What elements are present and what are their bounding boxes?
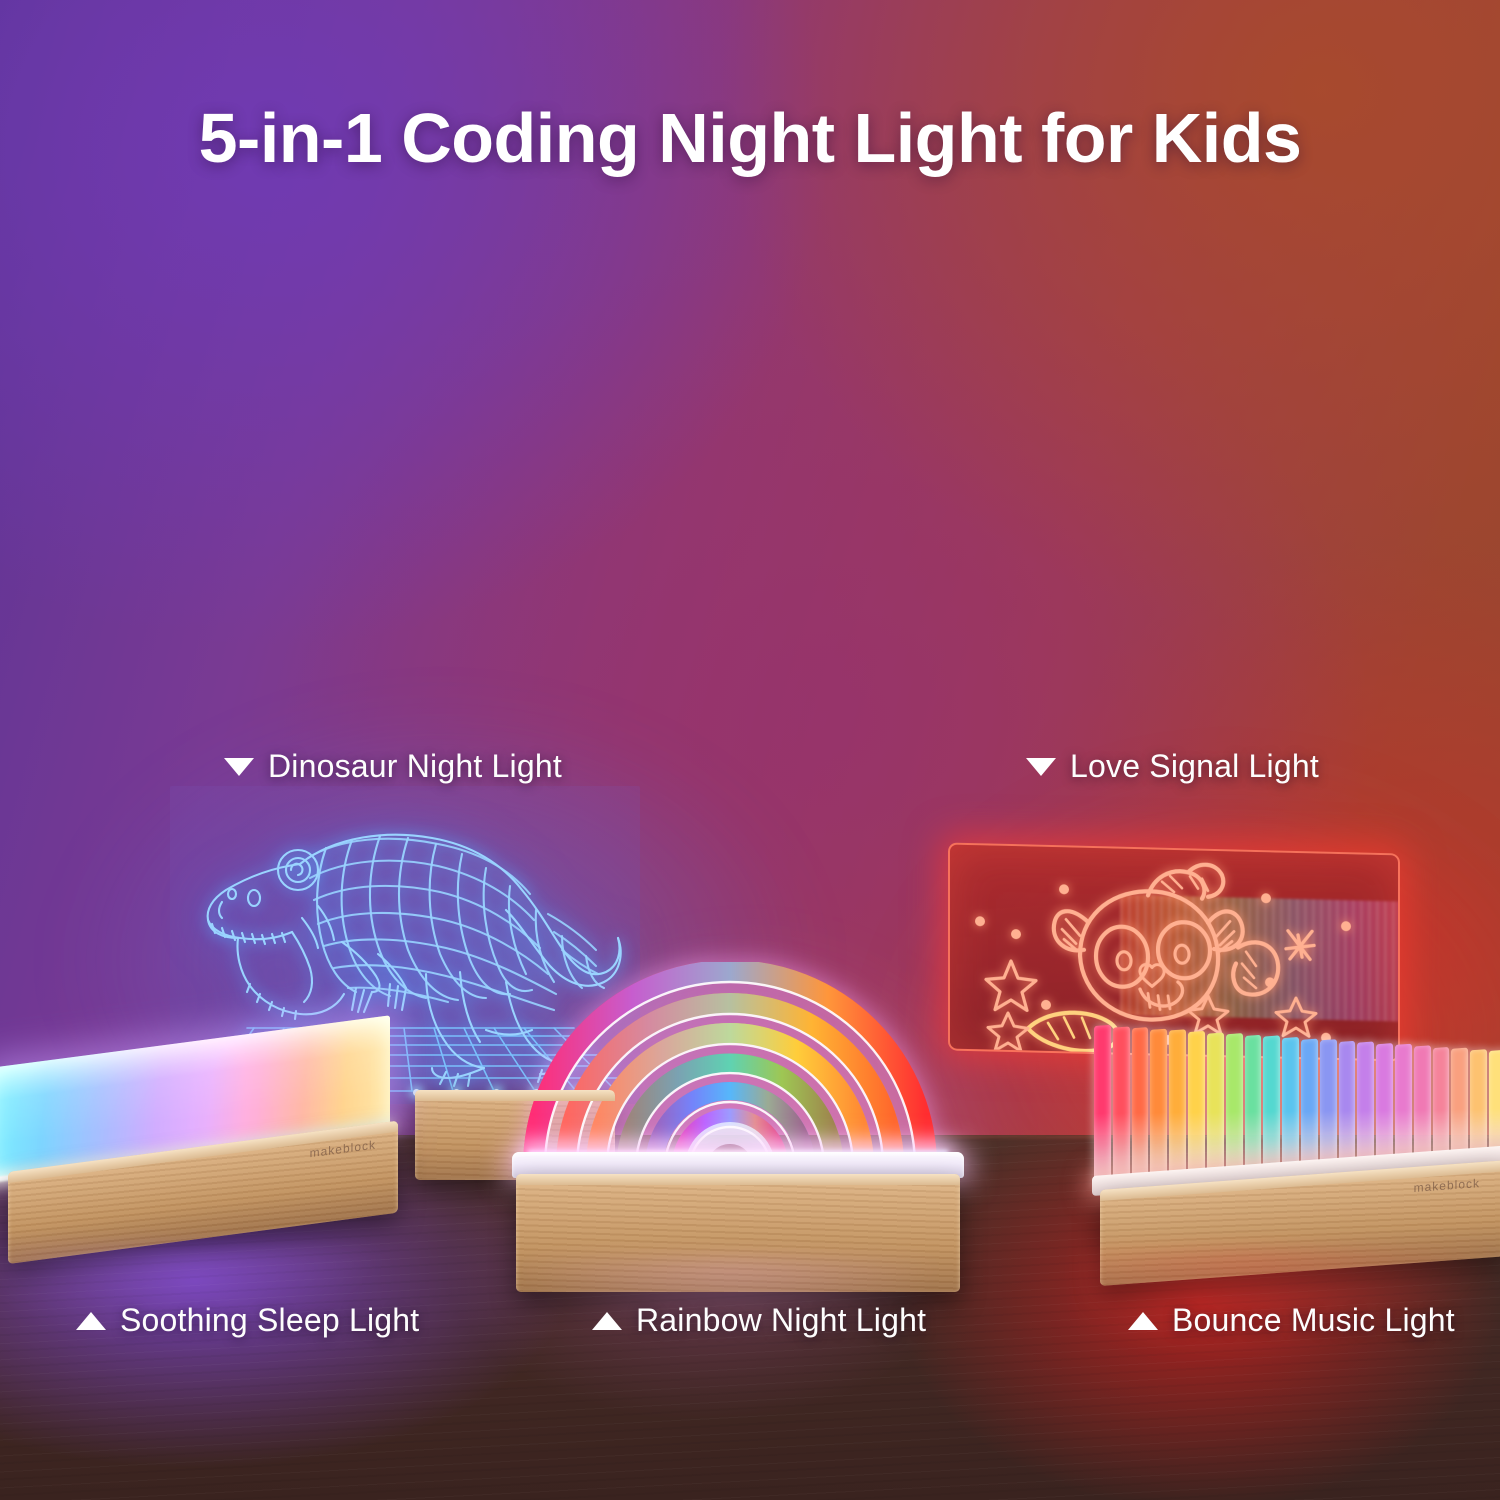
page-title: 5-in-1 Coding Night Light for Kids bbox=[0, 98, 1500, 178]
bounce-bar bbox=[1226, 1033, 1243, 1176]
callout-rainbow-night-light: Rainbow Night Light bbox=[592, 1302, 926, 1339]
product-bounce-music-light: makeblock bbox=[1090, 1026, 1500, 1276]
callout-bounce-music-light: Bounce Music Light bbox=[1128, 1302, 1455, 1339]
callout-soothing-sleep-light: Soothing Sleep Light bbox=[76, 1302, 419, 1339]
callout-label: Soothing Sleep Light bbox=[120, 1302, 419, 1339]
triangle-up-icon bbox=[1128, 1312, 1158, 1330]
bounce-bar bbox=[1414, 1045, 1431, 1162]
bounce-bar bbox=[1132, 1027, 1149, 1183]
callout-label: Rainbow Night Light bbox=[636, 1302, 926, 1339]
rainbow-wooden-base: makeblock bbox=[516, 1174, 960, 1292]
callout-label: Dinosaur Night Light bbox=[268, 748, 562, 785]
product-rainbow-night-light: makeblock bbox=[498, 962, 978, 1292]
bounce-bar bbox=[1357, 1042, 1374, 1167]
wooden-base-top bbox=[516, 1174, 960, 1185]
bounce-bar bbox=[1113, 1026, 1130, 1185]
bounce-bar bbox=[1433, 1047, 1450, 1162]
bounce-bar bbox=[1320, 1039, 1337, 1169]
bounce-bar bbox=[1282, 1037, 1299, 1172]
bounce-bar bbox=[1207, 1032, 1224, 1178]
bounce-bar bbox=[1489, 1050, 1500, 1157]
bounce-bar bbox=[1301, 1038, 1318, 1171]
bounce-bar bbox=[1094, 1025, 1111, 1186]
product-soothing-sleep-light: makeblock bbox=[0, 1068, 410, 1268]
triangle-up-icon bbox=[592, 1312, 622, 1330]
bounce-bar bbox=[1150, 1028, 1167, 1181]
product-marketing-image: 5-in-1 Coding Night Light for Kids bbox=[0, 0, 1500, 1500]
callout-label: Bounce Music Light bbox=[1172, 1302, 1455, 1339]
callout-label: Love Signal Light bbox=[1070, 748, 1319, 785]
callout-dinosaur-night-light: Dinosaur Night Light bbox=[224, 748, 562, 785]
triangle-down-icon bbox=[1026, 758, 1056, 776]
bounce-bar bbox=[1263, 1036, 1280, 1174]
bounce-bar bbox=[1451, 1048, 1468, 1160]
triangle-up-icon bbox=[76, 1312, 106, 1330]
brand-text: makeblock bbox=[1414, 1176, 1480, 1195]
bounce-bar bbox=[1245, 1034, 1262, 1175]
wooden-base-top bbox=[415, 1090, 615, 1101]
bounce-bar bbox=[1395, 1044, 1412, 1164]
rainbow-arc-art bbox=[520, 962, 960, 1177]
callout-love-signal-light: Love Signal Light bbox=[1026, 748, 1319, 785]
bounce-bar bbox=[1169, 1030, 1186, 1181]
triangle-down-icon bbox=[224, 758, 254, 776]
bounce-bar bbox=[1188, 1031, 1205, 1179]
bounce-bar bbox=[1376, 1043, 1393, 1165]
bounce-bar bbox=[1470, 1049, 1487, 1158]
bounce-bar bbox=[1339, 1040, 1356, 1168]
